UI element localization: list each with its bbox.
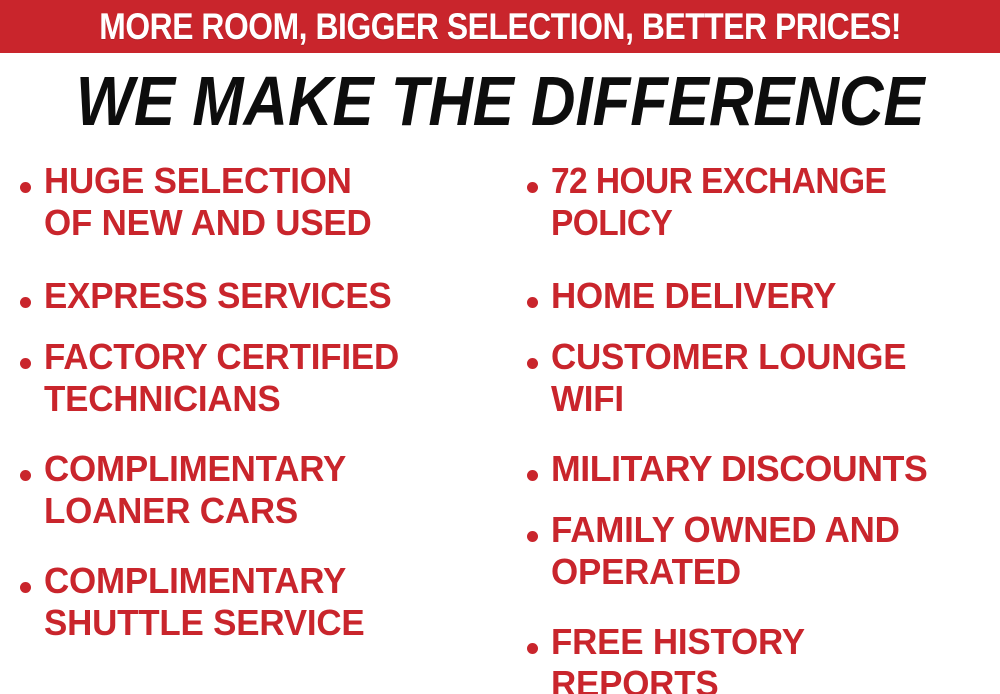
bullet-dot-icon [20,182,31,193]
top-promo-banner-text: MORE ROOM, BIGGER SELECTION, BETTER PRIC… [99,8,901,45]
bullet-dot-icon [20,582,31,593]
list-item-label: COMPLIMENTARY SHUTTLE SERVICE [44,560,364,644]
list-item-label: 72 HOUR EXCHANGE POLICY [551,160,886,244]
list-item: COMPLIMENTARY SHUTTLE SERVICE [20,560,501,644]
list-item-label: FREE HISTORY REPORTS [551,621,805,694]
bullet-dot-icon [527,643,538,654]
list-item: FACTORY CERTIFIED TECHNICIANS [20,336,501,420]
benefits-column-left: HUGE SELECTION OF NEW AND USED EXPRESS S… [0,160,505,694]
bullet-dot-icon [20,358,31,369]
benefits-columns: HUGE SELECTION OF NEW AND USED EXPRESS S… [0,160,1000,694]
bullet-dot-icon [527,531,538,542]
dealership-benefits-banner: MORE ROOM, BIGGER SELECTION, BETTER PRIC… [0,0,1000,694]
list-item-label: FAMILY OWNED AND OPERATED [551,509,900,593]
headline-container: WE MAKE THE DIFFERENCE [0,62,1000,140]
list-item: 72 HOUR EXCHANGE POLICY [527,160,998,244]
bullet-dot-icon [20,297,31,308]
list-item-label: COMPLIMENTARY LOANER CARS [44,448,346,532]
bullet-dot-icon [527,470,538,481]
bullet-dot-icon [527,297,538,308]
list-item: HOME DELIVERY [527,275,998,317]
list-item-label: EXPRESS SERVICES [44,275,392,317]
list-item-label: CUSTOMER LOUNGE WIFI [551,336,906,420]
list-item-label: HOME DELIVERY [551,275,836,317]
bullet-dot-icon [20,470,31,481]
list-item-label: HUGE SELECTION OF NEW AND USED [44,160,372,244]
list-item: MILITARY DISCOUNTS [527,448,998,490]
bullet-dot-icon [527,358,538,369]
top-promo-banner: MORE ROOM, BIGGER SELECTION, BETTER PRIC… [0,0,1000,53]
list-item-label: MILITARY DISCOUNTS [551,448,927,490]
list-item: EXPRESS SERVICES [20,275,501,317]
benefits-column-right: 72 HOUR EXCHANGE POLICY HOME DELIVERY CU… [505,160,1000,694]
list-item-label: FACTORY CERTIFIED TECHNICIANS [44,336,399,420]
list-item: FAMILY OWNED AND OPERATED [527,509,998,593]
list-item: FREE HISTORY REPORTS [527,621,998,694]
page-title: WE MAKE THE DIFFERENCE [76,66,925,136]
list-item: CUSTOMER LOUNGE WIFI [527,336,998,420]
bullet-dot-icon [527,182,538,193]
list-item: COMPLIMENTARY LOANER CARS [20,448,501,532]
list-item: HUGE SELECTION OF NEW AND USED [20,160,501,244]
